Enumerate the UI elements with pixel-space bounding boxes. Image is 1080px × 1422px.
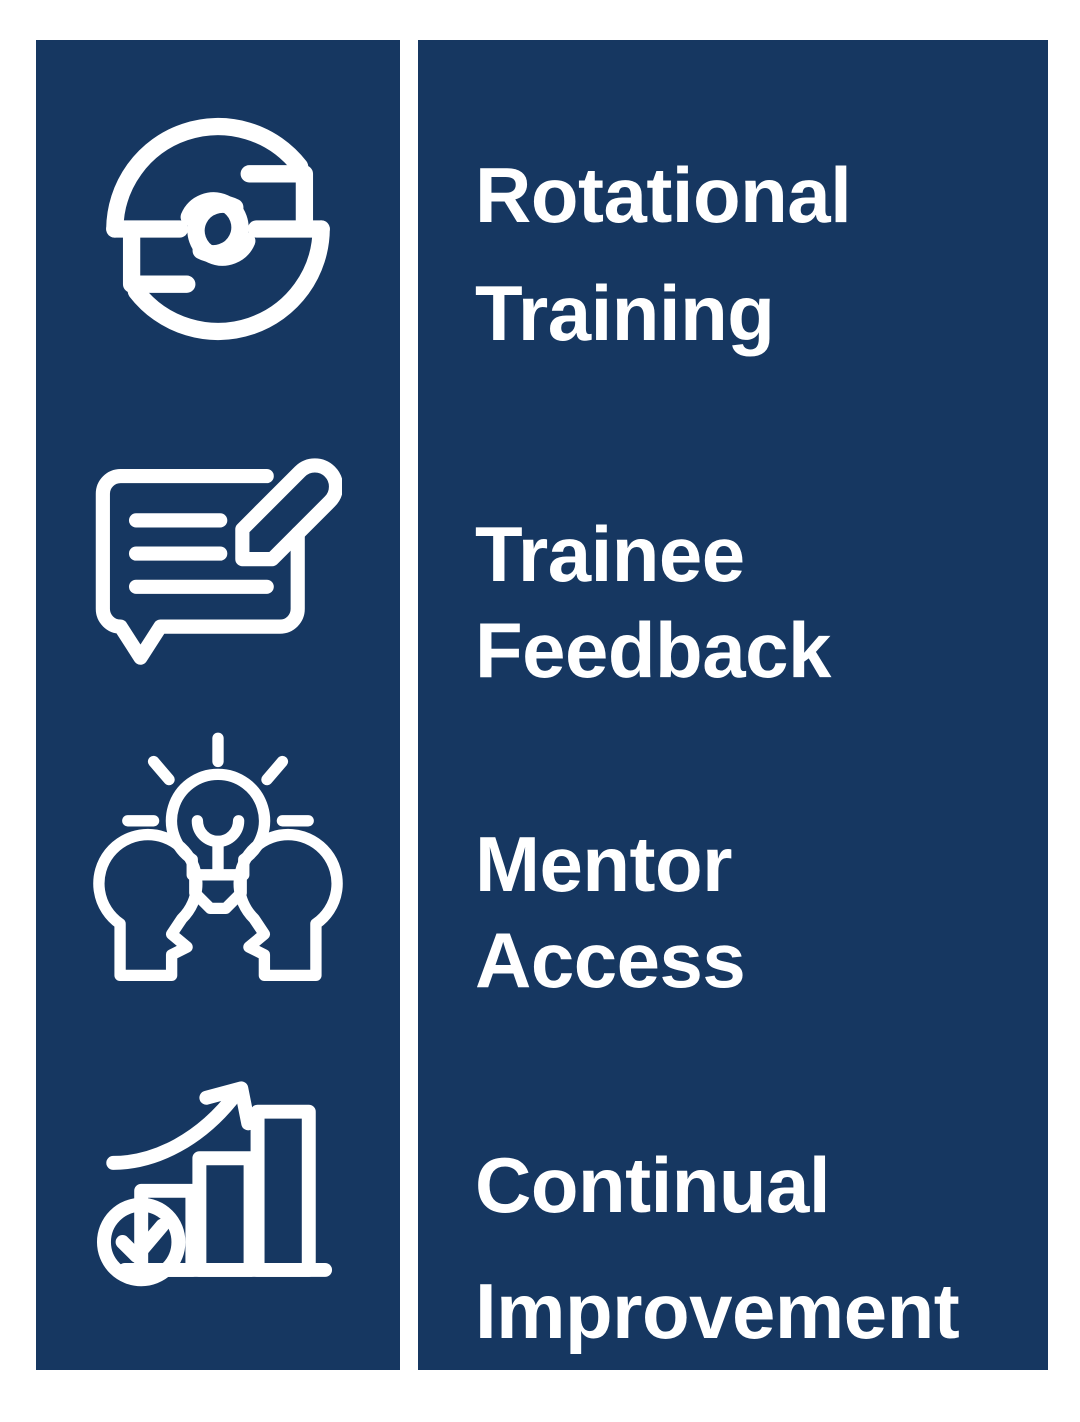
label-line: Mentor: [475, 816, 1035, 912]
label-line: Training: [475, 254, 1035, 372]
label-continual-improvement: Continual Improvement: [475, 1122, 1035, 1374]
label-line: Continual: [475, 1122, 1035, 1248]
label-mentor-access: Mentor Access: [475, 816, 1035, 1008]
icon-cell-continual-improvement: [36, 1050, 400, 1320]
speech-bubble-pencil-icon: [94, 449, 342, 667]
icon-cell-rotational-training: [36, 84, 400, 374]
label-line: Rotational: [475, 136, 1035, 254]
label-line: Trainee: [475, 506, 1035, 602]
label-line: Improvement: [475, 1248, 1035, 1374]
two-heads-lightbulb-icon: [84, 728, 352, 996]
growth-bar-chart-check-icon: [90, 1072, 346, 1298]
icon-cell-trainee-feedback: [36, 428, 400, 688]
label-panel: Rotational Training Trainee Feedback Men…: [418, 40, 1048, 1370]
rotational-cycle-icon: [98, 109, 338, 349]
infographic-canvas: Rotational Training Trainee Feedback Men…: [0, 0, 1080, 1422]
label-trainee-feedback: Trainee Feedback: [475, 506, 1035, 698]
label-rotational-training: Rotational Training: [475, 136, 1035, 372]
label-line: Access: [475, 912, 1035, 1008]
icon-cell-mentor-access: [36, 712, 400, 1012]
icon-panel: [36, 40, 400, 1370]
label-line: Feedback: [475, 602, 1035, 698]
